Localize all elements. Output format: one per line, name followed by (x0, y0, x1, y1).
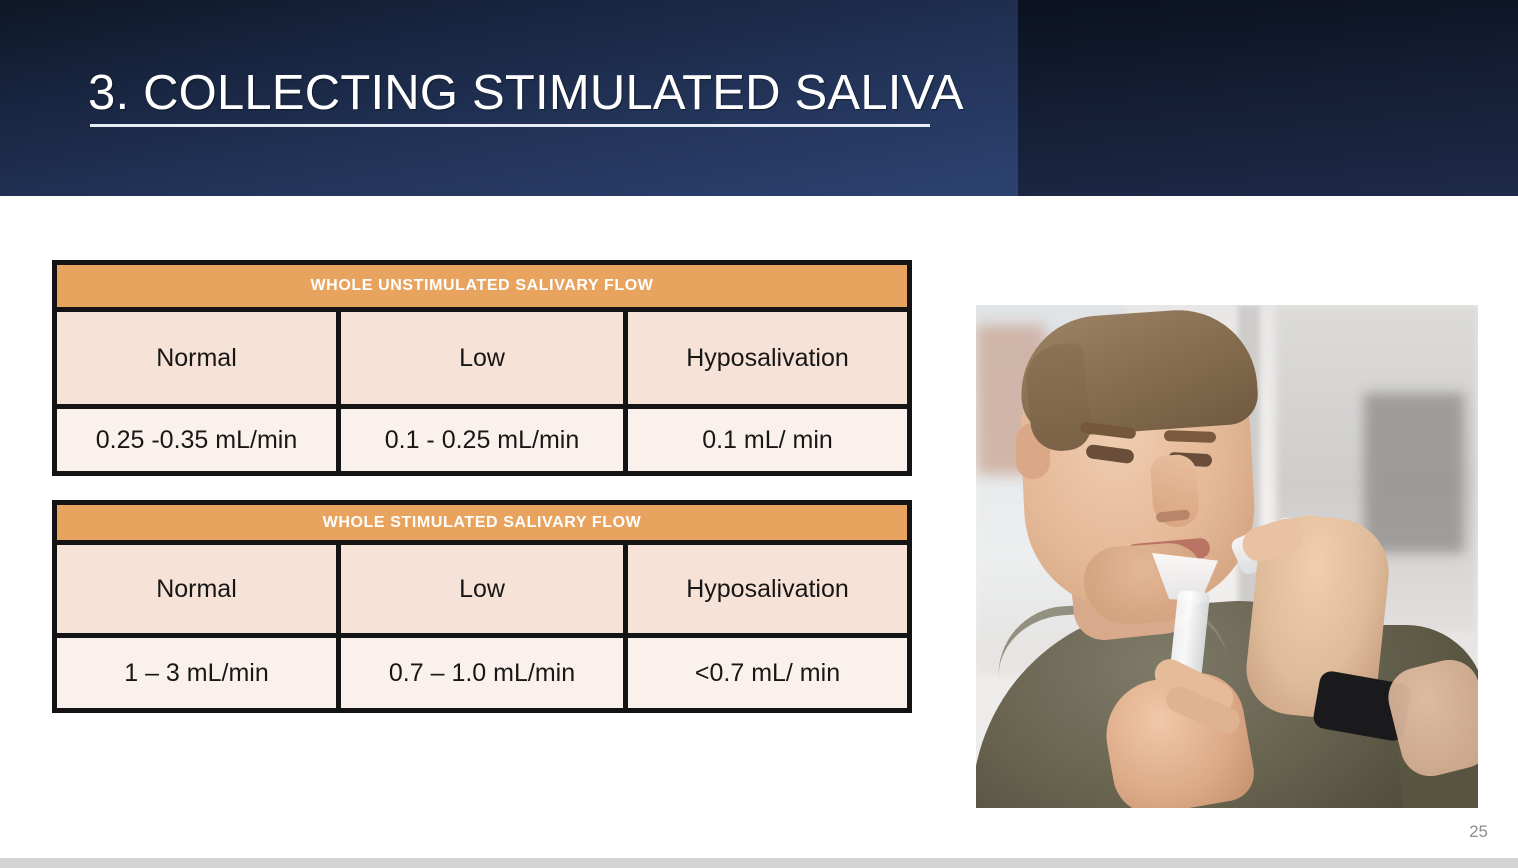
page-title: 3. COLLECTING STIMULATED SALIVA (88, 68, 964, 119)
title-underline (90, 124, 930, 127)
table-row-headers: Normal Low Hyposalivation (57, 312, 907, 409)
table-row-values: 0.25 -0.35 mL/min 0.1 - 0.25 mL/min 0.1 … (57, 409, 907, 471)
table-cell-header-hyposalivation: Hyposalivation (628, 312, 907, 404)
footer-strip (0, 858, 1518, 868)
table-row-values: 1 – 3 mL/min 0.7 – 1.0 mL/min <0.7 mL/ m… (57, 638, 907, 708)
table-cell-header-normal: Normal (57, 312, 341, 404)
eyebrow-right (1164, 430, 1216, 443)
table-cell-value-normal: 0.25 -0.35 mL/min (57, 409, 341, 471)
table-banner-unstimulated: WHOLE UNSTIMULATED SALIVARY FLOW (57, 265, 907, 312)
table-cell-value-hyposalivation: <0.7 mL/ min (628, 638, 907, 708)
table-unstimulated-salivary-flow: WHOLE UNSTIMULATED SALIVARY FLOW Normal … (52, 260, 912, 476)
slide-header-banner: 3. COLLECTING STIMULATED SALIVA (0, 0, 1518, 196)
slide-canvas: 3. COLLECTING STIMULATED SALIVA WHOLE UN… (0, 0, 1518, 868)
table-cell-header-hyposalivation: Hyposalivation (628, 545, 907, 633)
table-cell-header-low: Low (341, 545, 628, 633)
table-cell-value-hyposalivation: 0.1 mL/ min (628, 409, 907, 471)
saliva-collection-photo (976, 305, 1478, 808)
table-cell-header-normal: Normal (57, 545, 341, 633)
table-cell-value-low: 0.7 – 1.0 mL/min (341, 638, 628, 708)
header-right-dark-panel (1018, 0, 1518, 196)
table-cell-header-low: Low (341, 312, 628, 404)
window-dark-shape (1364, 393, 1464, 553)
table-stimulated-salivary-flow: WHOLE STIMULATED SALIVARY FLOW Normal Lo… (52, 500, 912, 713)
table-banner-stimulated: WHOLE STIMULATED SALIVARY FLOW (57, 505, 907, 545)
table-cell-value-normal: 1 – 3 mL/min (57, 638, 341, 708)
table-row-headers: Normal Low Hyposalivation (57, 545, 907, 638)
page-number: 25 (1469, 822, 1488, 842)
table-cell-value-low: 0.1 - 0.25 mL/min (341, 409, 628, 471)
